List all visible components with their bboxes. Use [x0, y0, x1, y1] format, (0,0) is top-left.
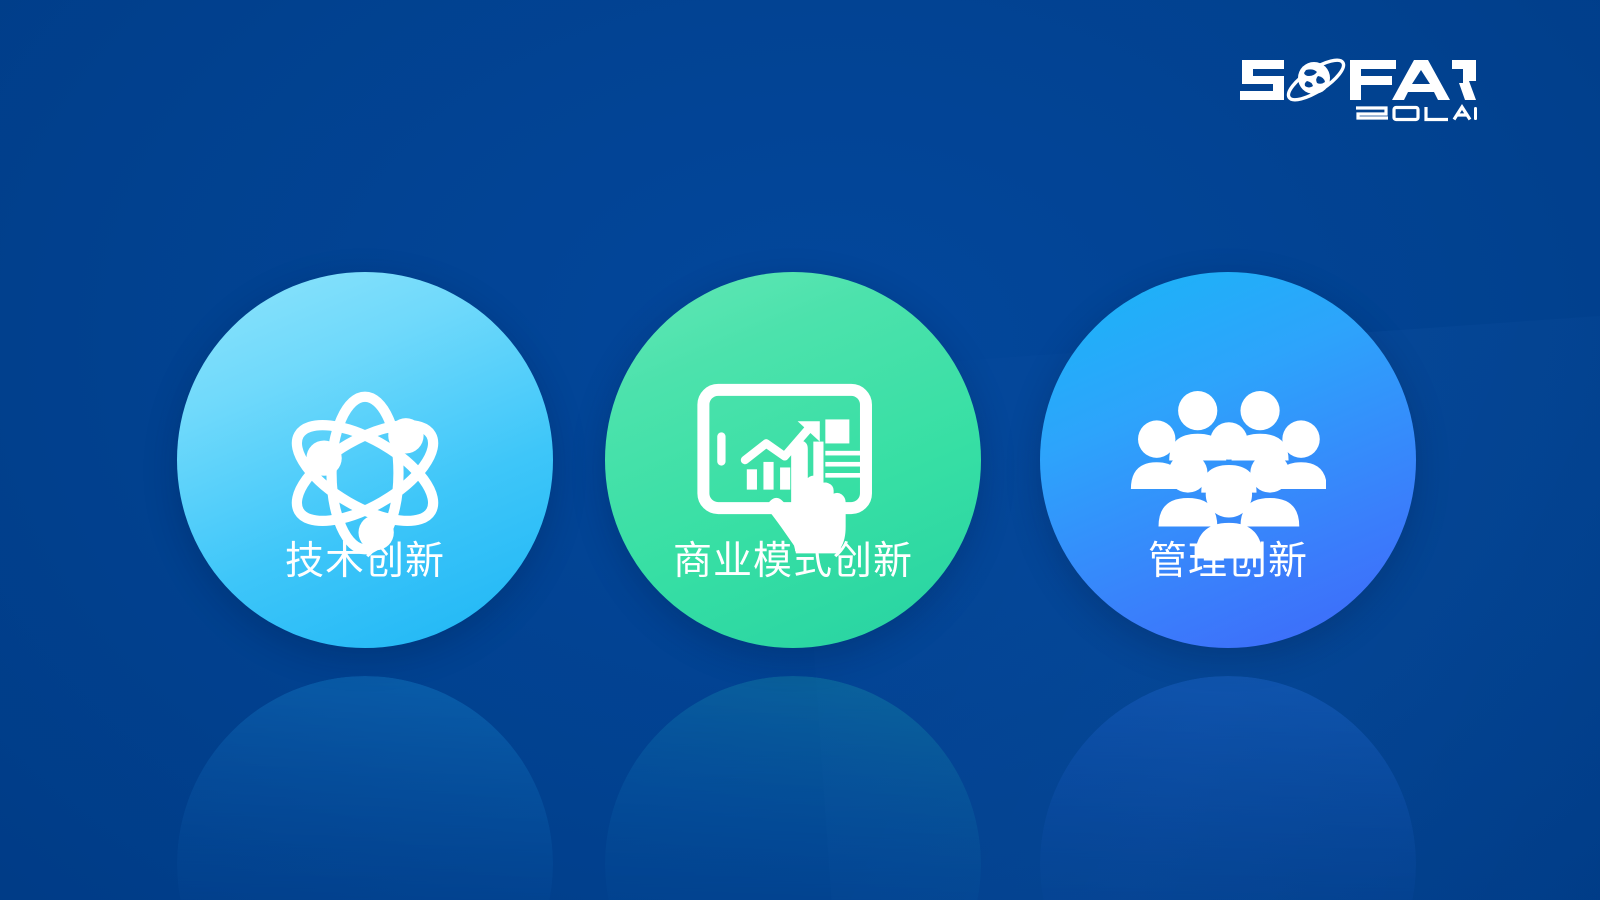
- innovation-label-management: 管理创新: [1040, 540, 1416, 585]
- circle-background-management: 管理创新: [1040, 272, 1416, 648]
- circle-background-business-model: 商业模式创新: [605, 272, 981, 648]
- innovation-label-technology: 技术创新: [177, 540, 553, 585]
- innovation-card-business-model[interactable]: 商业模式创新: [605, 272, 981, 648]
- innovation-circles-group: 技术创新: [0, 0, 1600, 900]
- slide-canvas: 技术创新: [0, 0, 1600, 900]
- innovation-card-technology[interactable]: 技术创新: [177, 272, 553, 648]
- innovation-label-business-model: 商业模式创新: [605, 540, 981, 585]
- circle-background-technology: 技术创新: [177, 272, 553, 648]
- innovation-card-management[interactable]: 管理创新: [1040, 272, 1416, 648]
